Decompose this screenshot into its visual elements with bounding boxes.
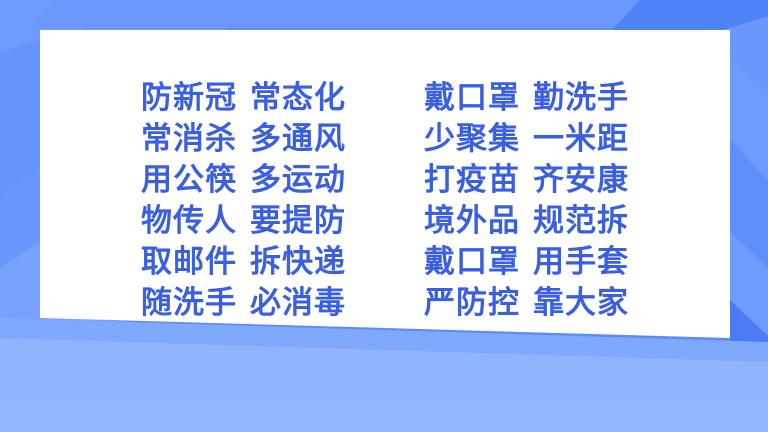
slogan-segment-first: 严防控: [424, 283, 520, 323]
slogan-segment-first: 戴口罩: [424, 242, 520, 282]
slogan-segment-first: 戴口罩: [424, 78, 520, 118]
slogan-segment-second: 一米距: [533, 119, 629, 159]
slogan-segment-first: 少聚集: [424, 119, 520, 159]
slogan-line: 随洗手必消毒: [141, 283, 346, 323]
slogan-column-right: 戴口罩勤洗手 少聚集一米距 打疫苗齐安康 境外品规范拆 戴口罩用手套 严防控靠大…: [424, 78, 629, 323]
slogan-segment-first: 打疫苗: [424, 160, 520, 200]
slogan-column-left: 防新冠常态化 常消杀多通风 用公筷多运动 物传人要提防 取邮件拆快递 随洗手必消…: [141, 78, 346, 323]
slogan-line: 打疫苗齐安康: [424, 160, 629, 200]
slogan-line: 防新冠常态化: [141, 78, 346, 118]
slogan-segment-second: 勤洗手: [533, 78, 629, 118]
slogan-line: 严防控靠大家: [424, 283, 629, 323]
slogan-segment-second: 常态化: [250, 78, 346, 118]
slogan-segment-first: 随洗手: [141, 283, 237, 323]
slogan-segment-first: 取邮件: [141, 242, 237, 282]
slogan-segment-second: 多通风: [250, 119, 346, 159]
slogan-segment-second: 用手套: [533, 242, 629, 282]
slogan-line: 戴口罩用手套: [424, 242, 629, 282]
slogan-line: 戴口罩勤洗手: [424, 78, 629, 118]
slogan-line: 少聚集一米距: [424, 119, 629, 159]
slogan-line: 境外品规范拆: [424, 201, 629, 241]
slogan-area: 防新冠常态化 常消杀多通风 用公筷多运动 物传人要提防 取邮件拆快递 随洗手必消…: [40, 30, 730, 320]
slogan-segment-second: 规范拆: [533, 201, 629, 241]
slogan-line: 用公筷多运动: [141, 160, 346, 200]
slogan-line: 物传人要提防: [141, 201, 346, 241]
slogan-segment-second: 齐安康: [533, 160, 629, 200]
slogan-segment-second: 要提防: [250, 201, 346, 241]
poster-root: 防新冠常态化 常消杀多通风 用公筷多运动 物传人要提防 取邮件拆快递 随洗手必消…: [0, 0, 768, 432]
slogan-segment-second: 拆快递: [250, 242, 346, 282]
slogan-segment-second: 必消毒: [250, 283, 346, 323]
slogan-segment-second: 多运动: [250, 160, 346, 200]
slogan-segment-first: 防新冠: [141, 78, 237, 118]
slogan-segment-first: 境外品: [424, 201, 520, 241]
slogan-line: 取邮件拆快递: [141, 242, 346, 282]
slogan-segment-first: 常消杀: [141, 119, 237, 159]
slogan-line: 常消杀多通风: [141, 119, 346, 159]
slogan-segment-first: 物传人: [141, 201, 237, 241]
slogan-segment-second: 靠大家: [533, 283, 629, 323]
slogan-segment-first: 用公筷: [141, 160, 237, 200]
